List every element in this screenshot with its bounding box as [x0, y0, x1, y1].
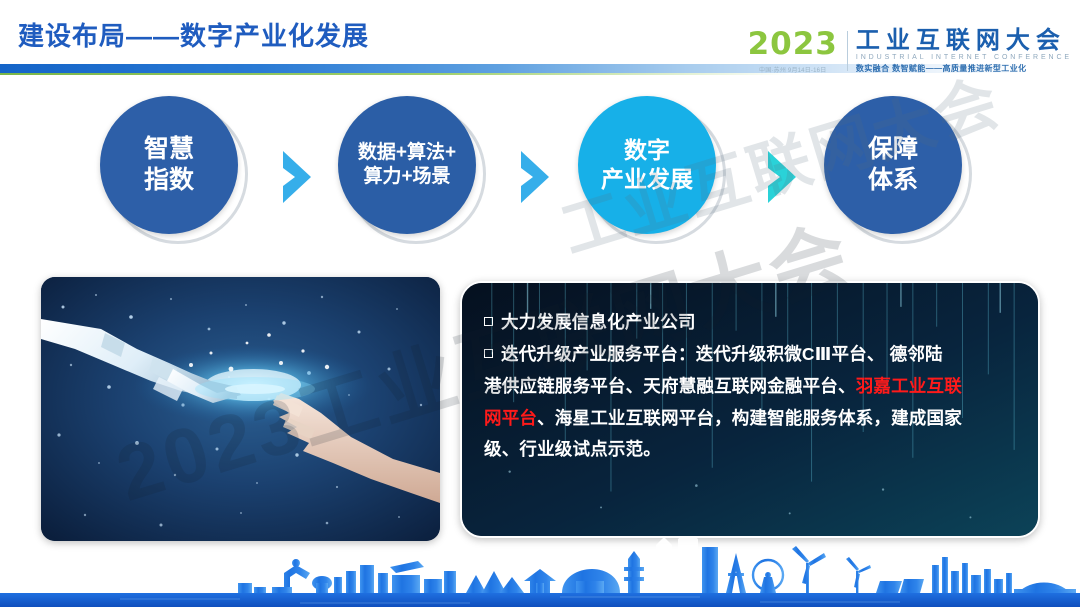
textbox-line-4-text: 、海星工业互联网平台，构建智能服务体系，建成国家: [537, 408, 962, 428]
header-rule-accent: [0, 73, 790, 75]
logo-year: 2023: [748, 29, 838, 60]
flow-node-4-line2: 体系: [868, 166, 918, 194]
flow-node-2-disc: 数据+算法+ 算力+场景: [338, 96, 476, 234]
flow-arrow-3-icon: [762, 148, 806, 206]
flow-node-2-line1: 数据+算法+: [358, 142, 456, 163]
slide-root: 建设布局——数字产业化发展 2023 中国·苏州 9月14日-16日 工业互联网…: [0, 0, 1080, 607]
textbox-line-5: 级、行业级试点示范。: [484, 434, 1018, 466]
textbox-line-1-text: 大力发展信息化产业公司: [501, 312, 696, 332]
flow-node-3: 数字 产业发展: [578, 96, 728, 246]
flow-node-1-disc: 智慧 指数: [100, 96, 238, 234]
flow-node-1-line1: 智慧: [144, 135, 194, 163]
logo-date: 中国·苏州 9月14日-16日: [759, 65, 826, 74]
robot-human-hands-image: [41, 277, 440, 541]
textbox-line-3-text: 港供应链服务平台、天府慧融互联网金融平台、: [484, 376, 856, 396]
flow-node-2-line2: 算力+场景: [363, 166, 450, 187]
logo-title-cn: 工业互联网大会: [856, 28, 1072, 53]
textbox-line-5-text: 级、行业级试点示范。: [484, 439, 661, 459]
footer-skyline: [0, 537, 1080, 607]
logo-year-block: 2023 中国·苏州 9月14日-16日: [748, 29, 847, 74]
textbox-line-4: 网平台、海星工业互联网平台，构建智能服务体系，建成国家: [484, 403, 1018, 435]
flow-node-3-disc: 数字 产业发展: [578, 96, 716, 234]
flow-arrow-1-icon: [277, 148, 321, 206]
illustration-photo: [41, 277, 440, 541]
city-skyline-icon: [0, 537, 1080, 607]
flow-node-3-line2: 产业发展: [601, 166, 693, 192]
flow-node-4-disc: 保障 体系: [824, 96, 962, 234]
textbox-content: 大力发展信息化产业公司 迭代升级产业服务平台：迭代升级积微CⅢ平台、 德邻陆 港…: [462, 283, 1038, 466]
flow-node-1-line2: 指数: [144, 166, 194, 194]
content-textbox: 大力发展信息化产业公司 迭代升级产业服务平台：迭代升级积微CⅢ平台、 德邻陆 港…: [460, 281, 1040, 538]
logo-slogan: 数实融合 数智赋能——高质量推进新型工业化: [856, 63, 1072, 74]
process-flow: 智慧 指数 数据+算法+ 算力+场景 数字: [0, 96, 1080, 261]
textbox-line-1: 大力发展信息化产业公司: [484, 307, 1018, 339]
logo-divider: [847, 31, 848, 71]
textbox-line-2-text: 迭代升级产业服务平台：迭代升级积微CⅢ平台、 德邻陆: [501, 344, 943, 364]
flow-node-4: 保障 体系: [824, 96, 974, 246]
logo-name-block: 工业互联网大会 INDUSTRIAL INTERNET CONFERENCE 数…: [856, 28, 1072, 74]
conference-logo: 2023 中国·苏州 9月14日-16日 工业互联网大会 INDUSTRIAL …: [748, 24, 1072, 78]
textbox-line-4-highlight: 网平台: [484, 408, 537, 428]
textbox-line-2: 迭代升级产业服务平台：迭代升级积微CⅢ平台、 德邻陆: [484, 339, 1018, 371]
logo-title-en: INDUSTRIAL INTERNET CONFERENCE: [856, 53, 1072, 63]
flow-node-2: 数据+算法+ 算力+场景: [338, 96, 488, 246]
flow-arrow-2-icon: [515, 148, 559, 206]
textbox-line-3-highlight: 羽嘉工业互联: [856, 376, 962, 396]
flow-node-4-line1: 保障: [868, 135, 918, 163]
square-bullet-icon: [484, 349, 493, 358]
textbox-line-3: 港供应链服务平台、天府慧融互联网金融平台、羽嘉工业互联: [484, 371, 1018, 403]
flow-node-1: 智慧 指数: [100, 96, 250, 246]
square-bullet-icon: [484, 317, 493, 326]
flow-node-3-line1: 数字: [624, 137, 670, 163]
page-title: 建设布局——数字产业化发展: [18, 16, 369, 53]
